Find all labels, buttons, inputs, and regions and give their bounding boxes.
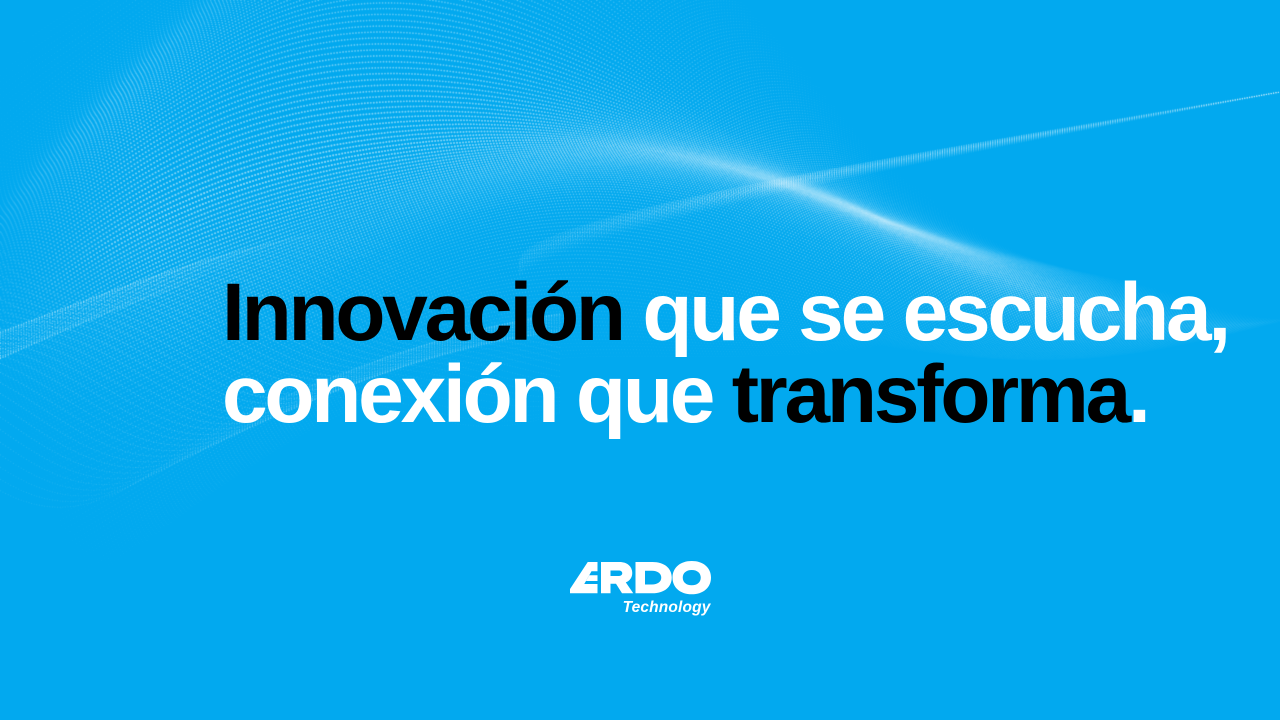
ardo-wordmark-icon bbox=[569, 560, 711, 598]
logo-tagline: Technology bbox=[569, 599, 712, 616]
slide-canvas: Innovación que se escucha, conexión que … bbox=[0, 0, 1280, 720]
headline-line-1-light: que se escucha, bbox=[623, 267, 1228, 358]
headline-line-1-dark: Innovación bbox=[222, 267, 623, 358]
headline-line-2-light-start: conexión que bbox=[222, 349, 732, 440]
logo-lockup: Technology bbox=[0, 560, 1280, 616]
headline-line-2-period: . bbox=[1128, 349, 1148, 440]
headline-line-2-dark: transforma bbox=[732, 349, 1128, 440]
headline: Innovación que se escucha, conexión que … bbox=[222, 272, 1082, 436]
headline-line-1: Innovación que se escucha, bbox=[222, 272, 1082, 354]
headline-line-2: conexión que transforma. bbox=[222, 354, 1082, 436]
